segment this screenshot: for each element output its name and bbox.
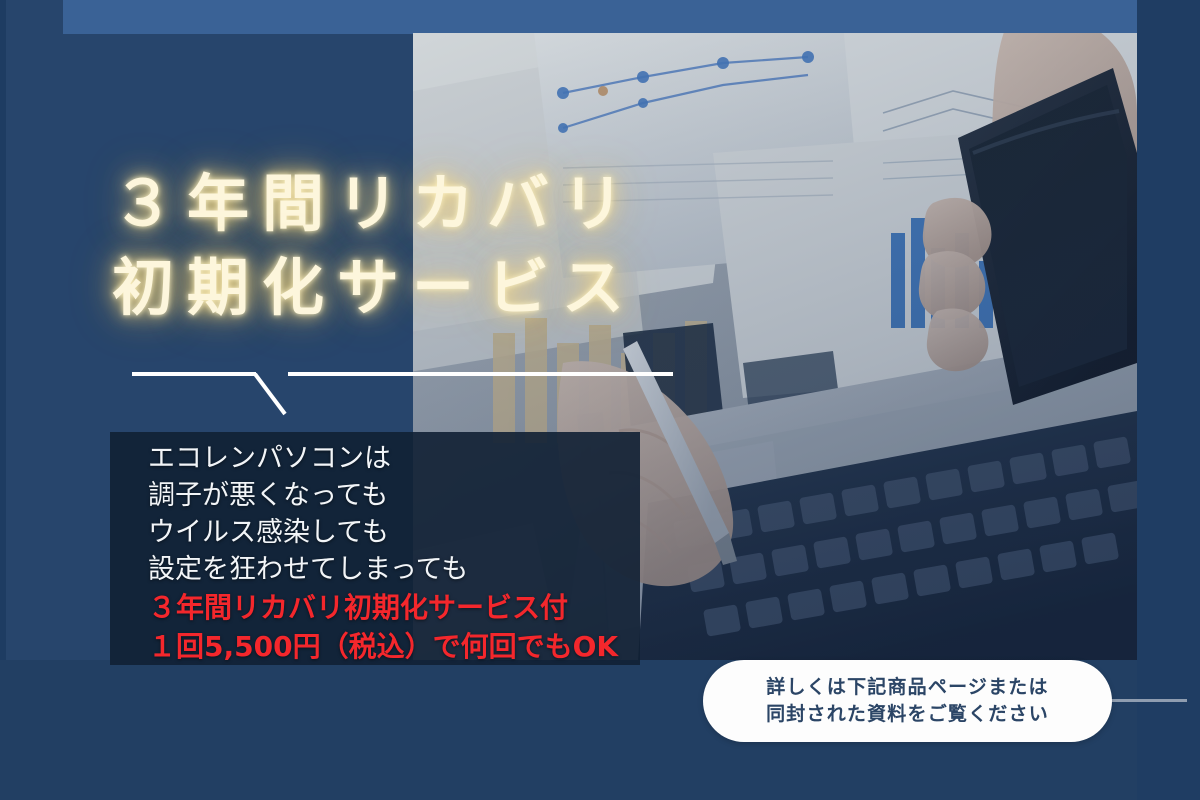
body-line-3: ウイルス感染しても (148, 514, 668, 551)
top-accent-band (63, 0, 1138, 34)
headline-line-2: 初期化サービス (112, 246, 872, 330)
callout-line-2: 同封された資料をご覧ください (766, 701, 1049, 728)
body-line-2: 調子が悪くなっても (148, 477, 668, 514)
body-line-4: 設定を狂わせてしまっても (148, 551, 668, 588)
callout-line-1: 詳しくは下記商品ページまたは (766, 674, 1048, 701)
body-line-6-accent: １回5,500円（税込）で何回でもOK (148, 627, 668, 666)
body-line-5-accent: ３年間リカバリ初期化サービス付 (148, 588, 668, 627)
body-line-1: エコレンパソコンは (148, 440, 668, 477)
right-navy-column (1137, 0, 1200, 800)
promo-banner: ３年間リカバリ 初期化サービス エコレンパソコンは 調子が悪くなっても ウイルス… (0, 0, 1200, 800)
body-copy: エコレンパソコンは 調子が悪くなっても ウイルス感染しても 設定を狂わせてしまっ… (148, 440, 668, 666)
headline: ３年間リカバリ 初期化サービス (112, 162, 872, 330)
headline-line-1: ３年間リカバリ (112, 162, 872, 246)
callout-pill[interactable]: 詳しくは下記商品ページまたは 同封された資料をご覧ください (703, 660, 1112, 742)
